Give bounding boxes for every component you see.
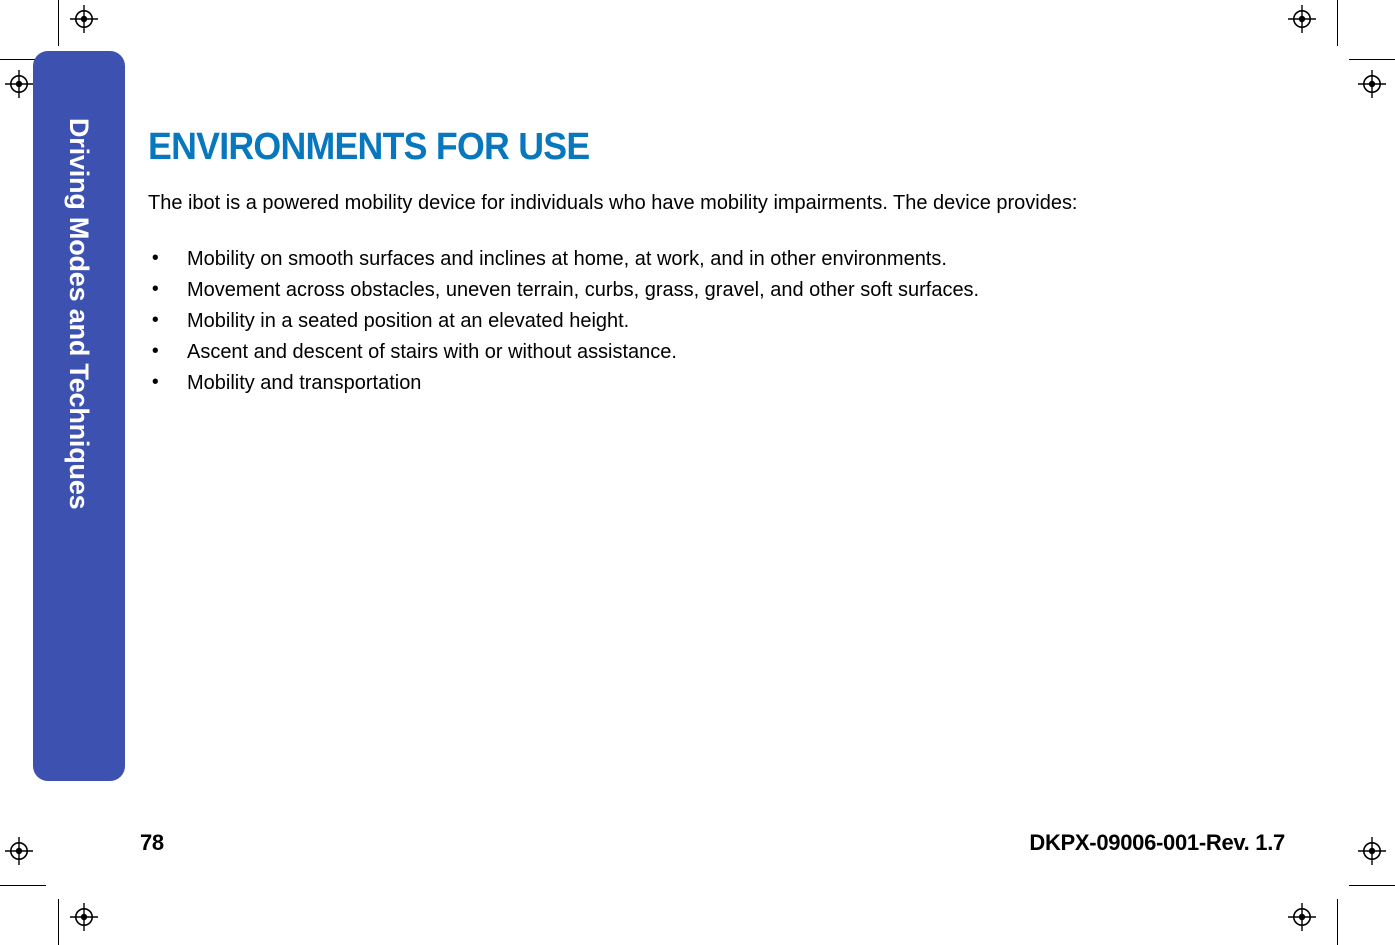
list-item-label: Movement across obstacles, uneven terrai… (187, 278, 979, 301)
bullet-icon: • (152, 274, 159, 305)
crop-mark-bottom-left-vertical (58, 899, 59, 945)
feature-list: •Mobility on smooth surfaces and incline… (148, 243, 1268, 398)
crop-mark-top-left-vertical (58, 0, 59, 46)
crop-mark-top-right-vertical (1337, 0, 1338, 46)
bullet-icon: • (152, 367, 159, 398)
chapter-tab-label: Driving Modes and Techniques (33, 51, 125, 781)
document-page: Driving Modes and Techniques ENVIRONMENT… (0, 0, 1395, 945)
list-item: •Mobility on smooth surfaces and incline… (148, 243, 1240, 274)
crop-mark-top-right-horizontal (1349, 59, 1395, 60)
bullet-icon: • (152, 305, 159, 336)
registration-mark-top-right-outer (1358, 70, 1386, 98)
registration-mark-top-left-outer (5, 70, 33, 98)
list-item: •Mobility and transportation (148, 367, 1240, 398)
registration-mark-top-right (1288, 5, 1316, 33)
chapter-tab: Driving Modes and Techniques (33, 51, 125, 781)
list-item: •Ascent and descent of stairs with or wi… (148, 336, 1240, 367)
registration-mark-bottom-left (5, 837, 33, 865)
list-item: •Movement across obstacles, uneven terra… (148, 274, 1240, 305)
registration-mark-top-left (70, 5, 98, 33)
footer-page-number: 78 (140, 830, 164, 856)
page-footer: 78 DKPX-09006-001-Rev. 1.7 (140, 830, 1285, 856)
list-item-label: Mobility and transportation (187, 371, 421, 394)
bullet-icon: • (152, 336, 159, 367)
crop-mark-bottom-left-horizontal (0, 885, 46, 886)
list-item-label: Mobility in a seated position at an elev… (187, 309, 629, 332)
registration-mark-bottom-right (1358, 837, 1386, 865)
crop-mark-bottom-right-vertical (1337, 899, 1338, 945)
crop-mark-bottom-right-horizontal (1349, 885, 1395, 886)
page-title: ENVIRONMENTS FOR USE (148, 128, 1201, 166)
footer-document-code: DKPX-09006-001-Rev. 1.7 (1029, 830, 1285, 856)
list-item-label: Mobility on smooth surfaces and inclines… (187, 247, 947, 270)
registration-mark-bottom-left-outer (70, 903, 98, 931)
registration-mark-bottom-right-outer (1288, 903, 1316, 931)
content-column: ENVIRONMENTS FOR USE The ibot is a power… (148, 128, 1268, 398)
list-item-label: Ascent and descent of stairs with or wit… (187, 340, 677, 363)
bullet-icon: • (152, 243, 159, 274)
intro-paragraph: The ibot is a powered mobility device fo… (148, 188, 1157, 217)
list-item: •Mobility in a seated position at an ele… (148, 305, 1240, 336)
